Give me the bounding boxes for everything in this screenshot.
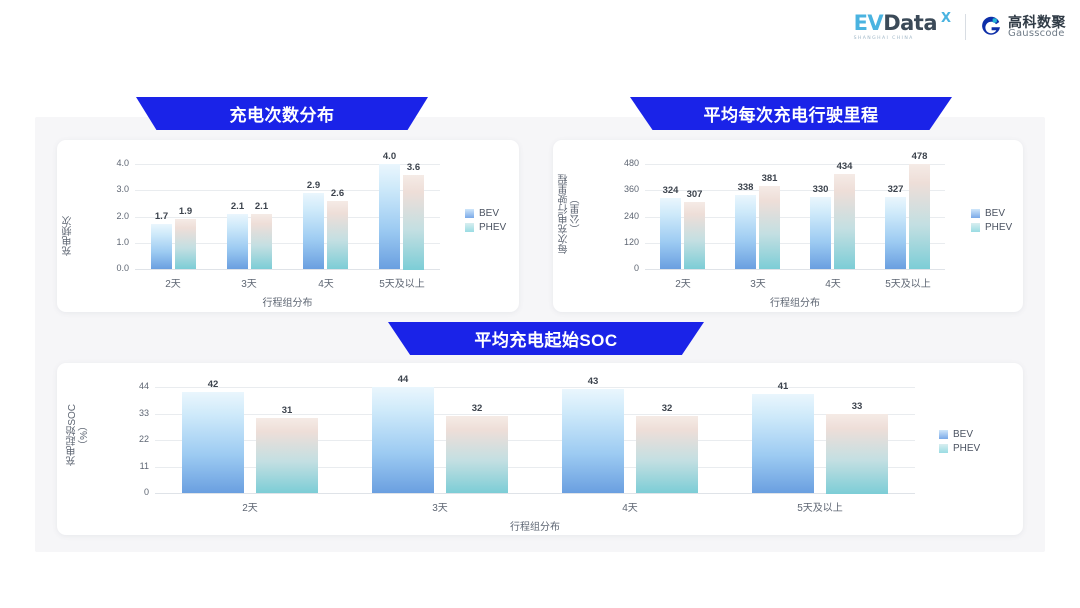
y-axis-tick-label: 0 (599, 263, 639, 273)
page-header: EVData X SHANGHAI CHINA 高科数聚 Gausscode (0, 0, 1080, 62)
legend-label: PHEV (985, 222, 1012, 233)
legend-label: PHEV (479, 222, 506, 233)
y-axis-title-line-1: 每次充电行驶里程 (559, 174, 571, 254)
bar-bev-2[interactable] (303, 193, 324, 269)
bar-phev-3[interactable] (826, 414, 888, 494)
y-axis-tick-label: 11 (109, 461, 149, 471)
bar-value-label: 41 (742, 381, 824, 392)
chart-card-avg-start-soc: 011223344充电起始SOC（%）42312天44323天43324天413… (57, 363, 1023, 535)
y-axis-tick-label: 1.0 (89, 237, 129, 247)
bar-phev-0[interactable] (256, 418, 318, 493)
bar-value-label: 1.9 (165, 206, 206, 217)
bar-bev-1[interactable] (227, 214, 248, 269)
evdata-wordmark: EVData (854, 13, 937, 34)
x-axis-tick-label: 5天及以上 (357, 275, 447, 290)
legend-item-bev[interactable]: BEV (971, 208, 1012, 219)
legend-item-bev[interactable]: BEV (465, 208, 506, 219)
chart-title-banner-avg-mileage: 平均每次充电行驶里程 (630, 97, 952, 130)
bar-phev-1[interactable] (759, 186, 780, 269)
y-axis-tick-label: 120 (599, 237, 639, 247)
y-axis-tick-label: 2.0 (89, 211, 129, 221)
x-axis-line (135, 269, 440, 270)
bar-value-label: 33 (816, 401, 898, 412)
chart-title-text: 平均每次充电行驶里程 (704, 101, 879, 126)
y-axis-tick-label: 360 (599, 184, 639, 194)
bar-bev-3[interactable] (752, 394, 814, 493)
gausscode-en-name: Gausscode (1008, 29, 1066, 39)
gausscode-cn-name: 高科数聚 (1008, 15, 1066, 30)
chart-title-text: 平均充电起始SOC (474, 326, 617, 351)
legend-item-phev[interactable]: PHEV (939, 443, 980, 454)
bar-phev-2[interactable] (636, 416, 698, 493)
chart-title-text: 充电次数分布 (230, 101, 335, 126)
chart-card-charging-frequency: 0.01.02.03.04.0充电频次1.71.92天2.12.13天2.92.… (57, 140, 519, 312)
x-axis-tick-label: 3天 (395, 499, 485, 514)
bar-value-label: 32 (436, 403, 518, 414)
legend-swatch-icon (465, 223, 474, 232)
x-axis-tick-label: 5天及以上 (775, 499, 865, 514)
bar-value-label: 307 (674, 189, 715, 200)
bar-phev-1[interactable] (251, 214, 272, 269)
bar-value-label: 43 (552, 376, 634, 387)
gausscode-logo: 高科数聚 Gausscode (980, 15, 1066, 40)
bar-bev-3[interactable] (885, 197, 906, 269)
gridline (645, 164, 945, 165)
y-axis-tick-label: 22 (109, 434, 149, 444)
y-axis-title: 充电频次 (63, 178, 75, 293)
bar-value-label: 478 (899, 151, 940, 162)
y-axis-tick-label: 44 (109, 381, 149, 391)
legend-swatch-icon (971, 223, 980, 232)
y-axis-tick-label: 33 (109, 408, 149, 418)
evdata-ev-text: EV (854, 11, 884, 35)
legend-swatch-icon (939, 430, 948, 439)
y-axis-tick-label: 0 (109, 487, 149, 497)
bar-value-label: 4.0 (369, 151, 410, 162)
legend-label: BEV (985, 208, 1005, 219)
y-axis-tick-label: 0.0 (89, 263, 129, 273)
bar-chart-avg-start-soc: 011223344充电起始SOC（%）42312天44323天43324天413… (57, 363, 1023, 535)
x-axis-tick-label: 4天 (585, 499, 675, 514)
bar-value-label: 42 (172, 379, 254, 390)
x-axis-line (155, 493, 915, 494)
legend-item-phev[interactable]: PHEV (971, 222, 1012, 233)
chart-title-banner-avg-start-soc: 平均充电起始SOC (388, 322, 704, 355)
x-axis-title: 行程组分布 (135, 294, 440, 309)
bar-bev-1[interactable] (372, 387, 434, 493)
bar-phev-2[interactable] (327, 201, 348, 269)
legend-item-bev[interactable]: BEV (939, 429, 980, 440)
bar-phev-0[interactable] (684, 202, 705, 269)
bar-bev-3[interactable] (379, 164, 400, 269)
bar-chart-avg-mileage: 0120240360480每次充电行驶里程（公里）3243072天3383813… (553, 140, 1023, 312)
chart-title-banner-charging-frequency: 充电次数分布 (136, 97, 428, 130)
bar-phev-2[interactable] (834, 174, 855, 269)
bar-bev-2[interactable] (562, 389, 624, 493)
bar-bev-0[interactable] (182, 392, 244, 493)
legend-label: BEV (953, 429, 973, 440)
chart-legend: BEVPHEV (939, 429, 980, 454)
y-axis-tick-label: 3.0 (89, 184, 129, 194)
y-axis-title: 每次充电行驶里程（公里） (559, 156, 582, 271)
bar-phev-3[interactable] (403, 175, 424, 270)
y-axis-tick-label: 4.0 (89, 158, 129, 168)
bar-chart-charging-frequency: 0.01.02.03.04.0充电频次1.71.92天2.12.13天2.92.… (57, 140, 519, 312)
legend-item-phev[interactable]: PHEV (465, 222, 506, 233)
x-axis-line (645, 269, 945, 270)
legend-swatch-icon (971, 209, 980, 218)
x-axis-title: 行程组分布 (155, 518, 915, 533)
bar-bev-0[interactable] (151, 224, 172, 269)
bar-phev-3[interactable] (909, 164, 930, 269)
legend-swatch-icon (465, 209, 474, 218)
bar-value-label: 2.6 (317, 188, 358, 199)
bar-value-label: 381 (749, 173, 790, 184)
bar-bev-1[interactable] (735, 195, 756, 269)
gausscode-mark-icon (980, 16, 1002, 38)
bar-phev-0[interactable] (175, 219, 196, 269)
bar-value-label: 32 (626, 403, 708, 414)
bar-value-label: 3.6 (393, 162, 434, 173)
chart-legend: BEVPHEV (465, 208, 506, 233)
evdata-superscript-x: X (941, 12, 951, 25)
x-axis-tick-label: 2天 (205, 499, 295, 514)
bar-value-label: 44 (362, 374, 444, 385)
evdata-data-text: Data (883, 11, 937, 35)
chart-legend: BEVPHEV (971, 208, 1012, 233)
legend-label: BEV (479, 208, 499, 219)
y-axis-title-line-1: 充电频次 (63, 216, 75, 256)
logo-divider (965, 14, 966, 40)
legend-label: PHEV (953, 443, 980, 454)
x-axis-title: 行程组分布 (645, 294, 945, 309)
y-axis-title-line-1: 充电起始SOC (67, 404, 79, 466)
y-axis-title: 充电起始SOC（%） (67, 377, 90, 493)
evdata-tagline: SHANGHAI CHINA (854, 37, 914, 42)
bar-phev-1[interactable] (446, 416, 508, 493)
bar-value-label: 31 (246, 405, 328, 416)
y-axis-title-line-2: （%） (79, 421, 91, 450)
bar-value-label: 434 (824, 161, 865, 172)
y-axis-title-line-2: （公里） (571, 194, 583, 234)
chart-card-avg-mileage: 0120240360480每次充电行驶里程（公里）3243072天3383813… (553, 140, 1023, 312)
logo-group: EVData X SHANGHAI CHINA 高科数聚 Gausscode (854, 13, 1066, 42)
bar-value-label: 2.1 (241, 201, 282, 212)
legend-swatch-icon (939, 444, 948, 453)
evdata-logo: EVData X SHANGHAI CHINA (854, 13, 951, 42)
gausscode-text: 高科数聚 Gausscode (1008, 15, 1066, 40)
bar-bev-2[interactable] (810, 197, 831, 269)
y-axis-tick-label: 240 (599, 211, 639, 221)
bar-bev-0[interactable] (660, 198, 681, 269)
y-axis-tick-label: 480 (599, 158, 639, 168)
x-axis-tick-label: 5天及以上 (863, 275, 953, 290)
